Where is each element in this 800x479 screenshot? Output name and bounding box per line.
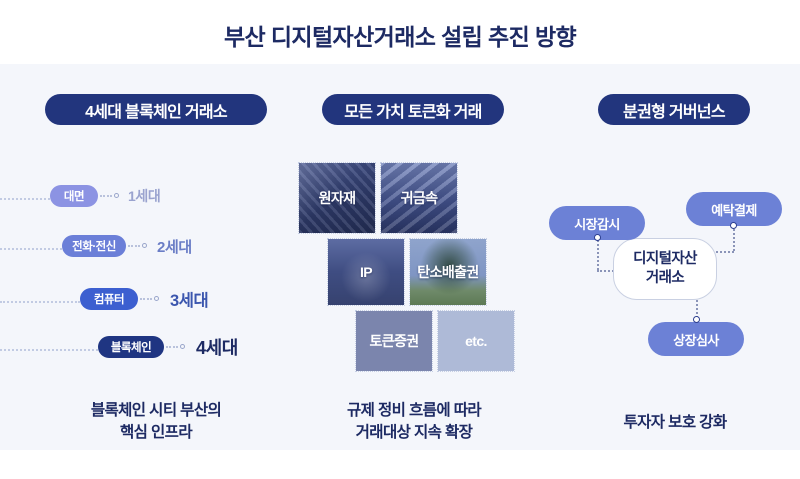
connector-market-surveillance-vertical — [597, 237, 599, 270]
caption-line-1: 투자자 보호 강화 — [623, 414, 726, 431]
asset-tile-raw-materials: 원자재 — [298, 162, 376, 234]
asset-tile-label: IP — [328, 264, 404, 280]
caption-line-1: 규제 정비 흐름에 따라 — [347, 402, 481, 419]
generation-pill-4: 블록체인 — [98, 336, 164, 358]
governance-center-node: 디지털자산 거래소 — [613, 238, 717, 300]
timeline-dash-4 — [166, 346, 178, 348]
asset-tile-label: etc. — [438, 333, 514, 349]
timeline-dot-4 — [180, 344, 185, 349]
caption-line-1: 블록체인 시티 부산의 — [91, 402, 221, 419]
timeline-dot-3 — [154, 296, 159, 301]
timeline-dot-2 — [142, 243, 147, 248]
center-node-line1: 디지털자산 — [633, 251, 697, 267]
asset-tile-etc: etc. — [437, 310, 515, 372]
asset-tile-label: 원자재 — [299, 188, 375, 208]
asset-tile-token-securities: 토큰증권 — [355, 310, 433, 372]
infographic-root: 부산 디지털자산거래소 설립 추진 방향 4세대 블록체인 거래소 모든 가치 … — [0, 0, 800, 479]
bottom-white-band — [0, 450, 800, 479]
connector-dot-listing-review — [693, 316, 700, 323]
column-caption-1: 블록체인 시티 부산의 핵심 인프라 — [30, 400, 282, 445]
generation-row-2: 전화·전신 2세대 — [0, 235, 280, 261]
governance-node-label: 예탁결제 — [711, 200, 756, 219]
generation-pill-3: 컴퓨터 — [80, 288, 138, 310]
page-title: 부산 디지털자산거래소 설립 추진 방향 — [0, 18, 800, 52]
asset-tile-ip: IP — [327, 238, 405, 306]
generation-label-1: 1세대 — [128, 186, 160, 206]
governance-node-label: 상장심사 — [673, 330, 718, 349]
governance-node-settlement: 예탁결제 — [686, 192, 782, 226]
asset-tile-precious-metals: 귀금속 — [380, 162, 458, 234]
connector-dot-market-surveillance — [594, 234, 601, 241]
generation-row-1: 대면 1세대 — [0, 185, 260, 211]
generation-label-2: 2세대 — [157, 236, 192, 257]
timeline-dot-1 — [114, 193, 119, 198]
timeline-dotted-line-4 — [0, 349, 98, 351]
column-header-blockchain-exchange: 4세대 블록체인 거래소 — [45, 94, 267, 125]
caption-line-2: 거래대상 지속 확장 — [356, 424, 473, 441]
governance-node-listing-review: 상장심사 — [648, 322, 744, 356]
governance-node-label: 시장감시 — [574, 214, 619, 233]
generation-label-4: 4세대 — [196, 334, 238, 360]
timeline-dotted-line-2 — [0, 248, 62, 250]
generation-pill-1: 대면 — [50, 185, 98, 207]
timeline-dash-3 — [140, 298, 152, 300]
column-header-governance: 분권형 거버넌스 — [598, 94, 750, 125]
generation-row-4: 블록체인 4세대 — [0, 336, 300, 362]
asset-tile-label: 토큰증권 — [356, 331, 432, 351]
column-caption-3: 투자자 보호 강화 — [590, 412, 760, 434]
timeline-dotted-line-1 — [0, 198, 50, 200]
column-header-tokenization: 모든 가치 토큰화 거래 — [322, 94, 504, 125]
generation-label-3: 3세대 — [170, 287, 208, 311]
asset-tile-label: 귀금속 — [381, 188, 457, 208]
connector-dot-settlement — [730, 222, 737, 229]
generation-row-3: 컴퓨터 3세대 — [0, 288, 290, 314]
timeline-dash-1 — [100, 195, 112, 197]
center-node-line2: 거래소 — [646, 270, 684, 286]
caption-line-2: 핵심 인프라 — [120, 424, 192, 441]
asset-tile-label: 탄소배출권 — [410, 262, 486, 282]
connector-settlement-vertical — [733, 226, 735, 251]
column-caption-2: 규제 정비 흐름에 따라 거래대상 지속 확장 — [305, 400, 523, 445]
timeline-dotted-line-3 — [0, 301, 80, 303]
asset-tile-carbon-credits: 탄소배출권 — [409, 238, 487, 306]
generation-pill-2: 전화·전신 — [62, 235, 126, 257]
timeline-dash-2 — [128, 245, 140, 247]
